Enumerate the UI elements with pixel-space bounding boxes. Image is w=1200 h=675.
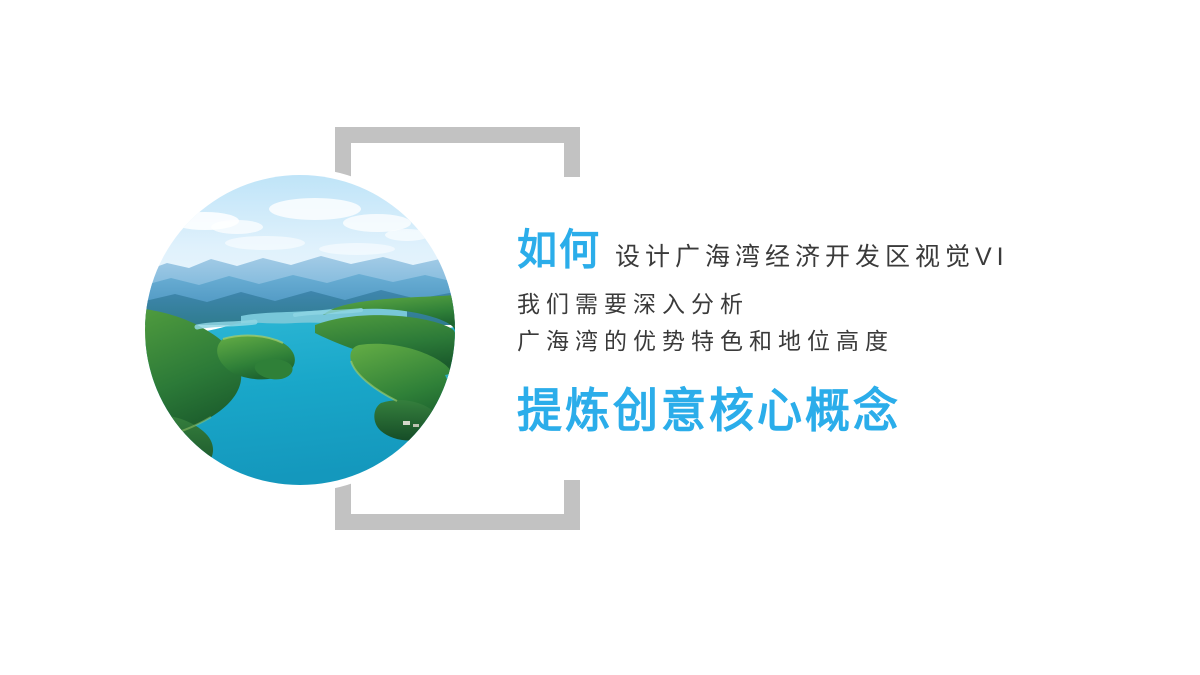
headline-rest: 设计广海湾经济开发区视觉VI [615, 245, 1009, 270]
slogan: 提炼创意核心概念 [517, 387, 1157, 434]
frame-right-top-stub [564, 127, 580, 177]
headline-row: 如何 设计广海湾经济开发区视觉VI [517, 232, 1157, 272]
subline-1: 我们需要深入分析 [517, 286, 1157, 323]
slide-canvas: 如何 设计广海湾经济开发区视觉VI 我们需要深入分析 广海湾的优势特色和地位高度… [0, 0, 1200, 675]
headline-accent: 如何 [517, 230, 601, 272]
frame-bottom-bar [335, 514, 580, 530]
frame-right-bottom-stub [564, 480, 580, 530]
circular-photo [145, 175, 455, 485]
text-block: 如何 设计广海湾经济开发区视觉VI 我们需要深入分析 广海湾的优势特色和地位高度… [517, 232, 1157, 432]
frame-top-bar [335, 127, 580, 143]
subline-2: 广海湾的优势特色和地位高度 [517, 323, 1157, 360]
